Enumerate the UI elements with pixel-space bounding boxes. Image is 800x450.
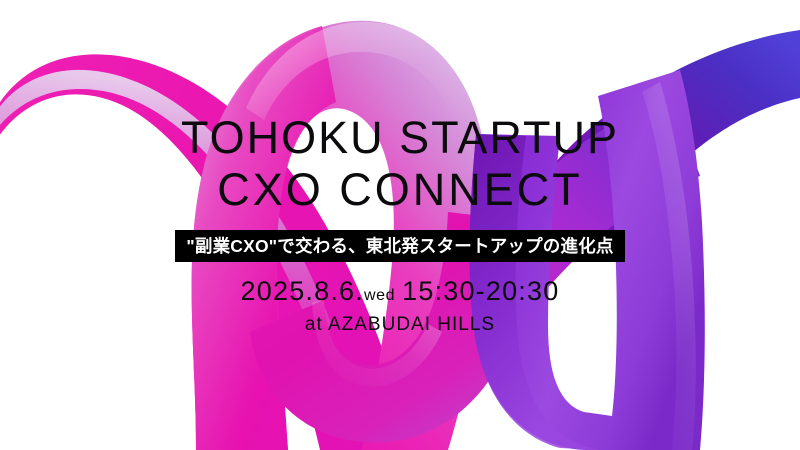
poster-title-line-1: TOHOKU STARTUP: [181, 112, 619, 164]
event-date-day: 2025.8.6.: [241, 276, 364, 307]
poster-subtitle-banner: "副業CXO"で交わる、東北発スタートアップの進化点: [175, 230, 624, 262]
poster-title-line-2: CXO CONNECT: [217, 164, 583, 216]
event-date-line: 2025.8.6. wed 15:30-20:30: [241, 276, 560, 307]
poster-content: TOHOKU STARTUP CXO CONNECT "副業CXO"で交わる、東…: [0, 0, 800, 450]
event-poster: TOHOKU STARTUP CXO CONNECT "副業CXO"で交わる、東…: [0, 0, 800, 450]
event-venue: at AZABUDAI HILLS: [305, 314, 495, 336]
title-block: TOHOKU STARTUP CXO CONNECT: [0, 112, 800, 216]
event-time-range: 15:30-20:30: [402, 276, 559, 307]
event-date-weekday: wed: [364, 287, 395, 305]
